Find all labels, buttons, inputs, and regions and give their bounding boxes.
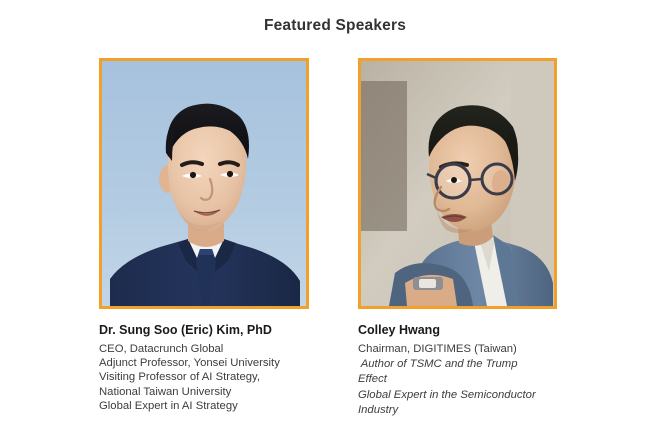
speaker-credentials-2: Chairman, DIGITIMES (Taiwan) Author of T… <box>358 342 558 418</box>
speaker-card-1: Dr. Sung Soo (Eric) Kim, PhD CEO, Datacr… <box>99 58 309 413</box>
portrait-sung-soo-kim-image <box>102 61 306 306</box>
featured-speakers-page: Featured Speakers <box>0 0 670 431</box>
credential-line: Global Expert in AI Strategy <box>99 399 309 413</box>
credential-line: Author of TSMC and the Trump <box>358 357 558 372</box>
credential-line: Industry <box>358 403 558 418</box>
speaker-credentials-1: CEO, Datacrunch Global Adjunct Professor… <box>99 342 309 413</box>
speaker-name: Colley Hwang <box>358 323 558 338</box>
speaker-card-2: Colley Hwang Chairman, DIGITIMES (Taiwan… <box>358 58 558 418</box>
speaker-info-1: Dr. Sung Soo (Eric) Kim, PhD CEO, Datacr… <box>99 323 309 413</box>
credential-line: Visiting Professor of AI Strategy, <box>99 370 309 384</box>
portrait-colley-hwang-image <box>361 61 554 306</box>
credential-line: Global Expert in the Semiconductor <box>358 388 558 403</box>
credential-line: National Taiwan University <box>99 385 309 399</box>
speaker-photo-frame-2 <box>358 58 557 309</box>
credential-line: Effect <box>358 372 558 387</box>
credential-line: Adjunct Professor, Yonsei University <box>99 356 309 370</box>
speaker-photo-frame-1 <box>99 58 309 309</box>
speaker-name: Dr. Sung Soo (Eric) Kim, PhD <box>99 323 309 338</box>
credential-line: CEO, Datacrunch Global <box>99 342 309 356</box>
page-title: Featured Speakers <box>0 17 670 35</box>
credential-line: Chairman, DIGITIMES (Taiwan) <box>358 342 558 357</box>
speaker-info-2: Colley Hwang Chairman, DIGITIMES (Taiwan… <box>358 323 558 418</box>
